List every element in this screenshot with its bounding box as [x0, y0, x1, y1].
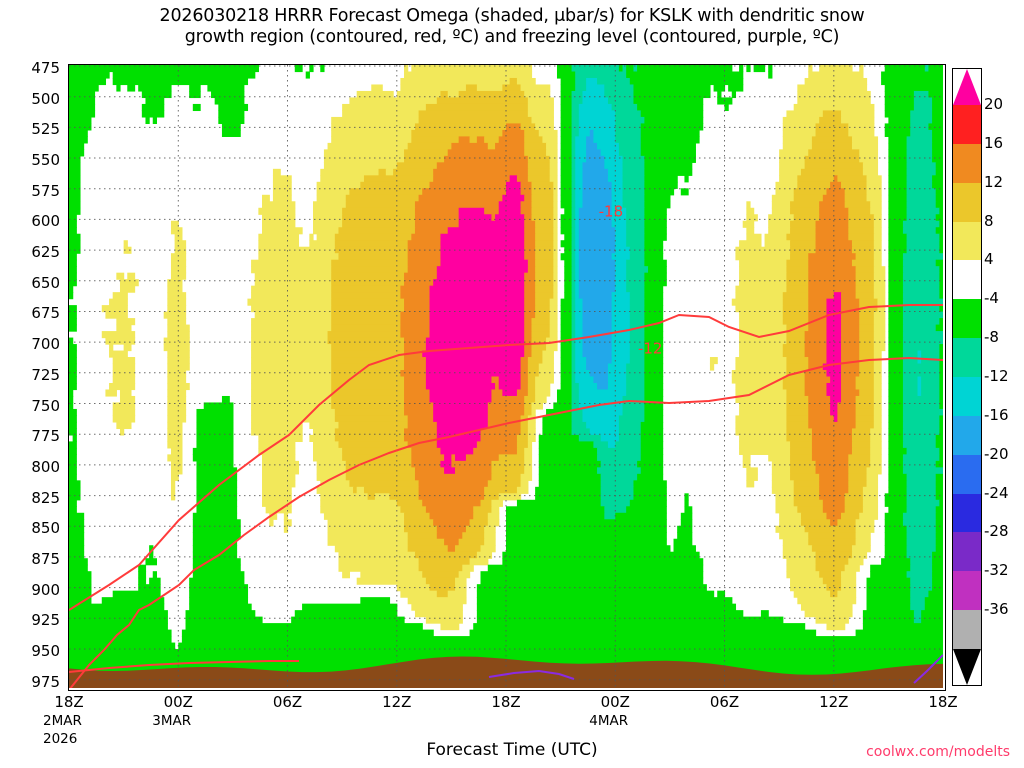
- contour-lines: -18-12: [69, 65, 943, 688]
- y-axis-tick-label: 700: [0, 335, 60, 353]
- colorbar-segment: [953, 571, 981, 610]
- x-axis-date-label: 4MAR: [589, 713, 628, 729]
- colorbar-tick-label: -8: [984, 328, 999, 346]
- colorbar-top-arrow: [953, 69, 981, 105]
- y-axis-tick-label: 625: [0, 243, 60, 261]
- colorbar-segment: [953, 532, 981, 571]
- colorbar-segment: [953, 144, 981, 183]
- y-axis-tick-label: 675: [0, 304, 60, 322]
- svg-text:-18: -18: [599, 202, 624, 220]
- colorbar-tick-label: 8: [984, 212, 994, 230]
- x-axis-tick-label: 06Z: [273, 693, 302, 711]
- x-axis-tick-label: 12Z: [382, 693, 411, 711]
- y-axis-tick-label: 825: [0, 489, 60, 507]
- colorbar-tick-label: -16: [984, 406, 1009, 424]
- colorbar-tick-label: -28: [984, 522, 1009, 540]
- x-axis-tick-label: 00Z: [601, 693, 630, 711]
- title-line-1: 2026030218 HRRR Forecast Omega (shaded, …: [160, 6, 865, 26]
- colorbar-segment: [953, 105, 981, 144]
- colorbar-segment: [953, 610, 981, 649]
- colorbar-tick-label: 16: [984, 134, 1003, 152]
- x-axis-tick-label: 18Z: [54, 693, 83, 711]
- x-axis-tick-label: 06Z: [710, 693, 739, 711]
- y-axis-tick-label: 750: [0, 397, 60, 415]
- colorbar-segment: [953, 260, 981, 299]
- y-axis-tick-label: 950: [0, 642, 60, 660]
- x-axis-tick-label: 12Z: [819, 693, 848, 711]
- colorbar-segment: [953, 377, 981, 416]
- y-axis-tick-label: 575: [0, 182, 60, 200]
- colorbar-segment: [953, 222, 981, 261]
- page-title: 2026030218 HRRR Forecast Omega (shaded, …: [0, 6, 1024, 48]
- y-axis-tick-label: 850: [0, 519, 60, 537]
- y-axis-tick-label: 475: [0, 59, 60, 77]
- colorbar-tick-label: -4: [984, 289, 999, 307]
- colorbar-tick-label: 12: [984, 173, 1003, 191]
- colorbar-segment: [953, 338, 981, 377]
- colorbar-tick-label: -32: [984, 561, 1009, 579]
- y-axis-tick-label: 925: [0, 611, 60, 629]
- y-axis-tick-label: 900: [0, 581, 60, 599]
- colorbar-tick-label: -36: [984, 600, 1009, 618]
- colorbar-tick-label: 20: [984, 95, 1003, 113]
- y-axis-tick-label: 550: [0, 151, 60, 169]
- colorbar-bottom-arrow: [953, 649, 981, 685]
- chart-plot-area: -18-12: [68, 64, 946, 691]
- credit-watermark: coolwx.com/modelts: [866, 744, 1010, 760]
- x-axis-tick-label: 18Z: [491, 693, 520, 711]
- colorbar-segment: [953, 455, 981, 494]
- y-axis-tick-label: 725: [0, 366, 60, 384]
- colorbar: [952, 68, 982, 686]
- y-axis-tick-label: 650: [0, 274, 60, 292]
- y-axis-tick-label: 500: [0, 90, 60, 108]
- x-axis-tick-label: 18Z: [928, 693, 957, 711]
- y-axis-tick-label: 800: [0, 458, 60, 476]
- svg-text:-12: -12: [638, 339, 663, 357]
- x-axis-date-label: 3MAR: [152, 713, 191, 729]
- colorbar-segment: [953, 416, 981, 455]
- y-axis-tick-label: 600: [0, 212, 60, 230]
- x-axis-tick-label: 00Z: [164, 693, 193, 711]
- colorbar-tick-label: -24: [984, 484, 1009, 502]
- colorbar-tick-label: -20: [984, 445, 1009, 463]
- y-axis-tick-label: 775: [0, 427, 60, 445]
- y-axis-tick-label: 525: [0, 120, 60, 138]
- y-axis-tick-label: 875: [0, 550, 60, 568]
- y-axis-tick-label: 975: [0, 673, 60, 691]
- title-line-2: growth region (contoured, red, ºC) and f…: [0, 27, 1024, 48]
- colorbar-segment: [953, 299, 981, 338]
- colorbar-segment: [953, 494, 981, 533]
- x-axis-date-label: 2MAR: [43, 713, 82, 729]
- colorbar-tick-label: -12: [984, 367, 1009, 385]
- colorbar-segment: [953, 183, 981, 222]
- colorbar-tick-label: 4: [984, 250, 994, 268]
